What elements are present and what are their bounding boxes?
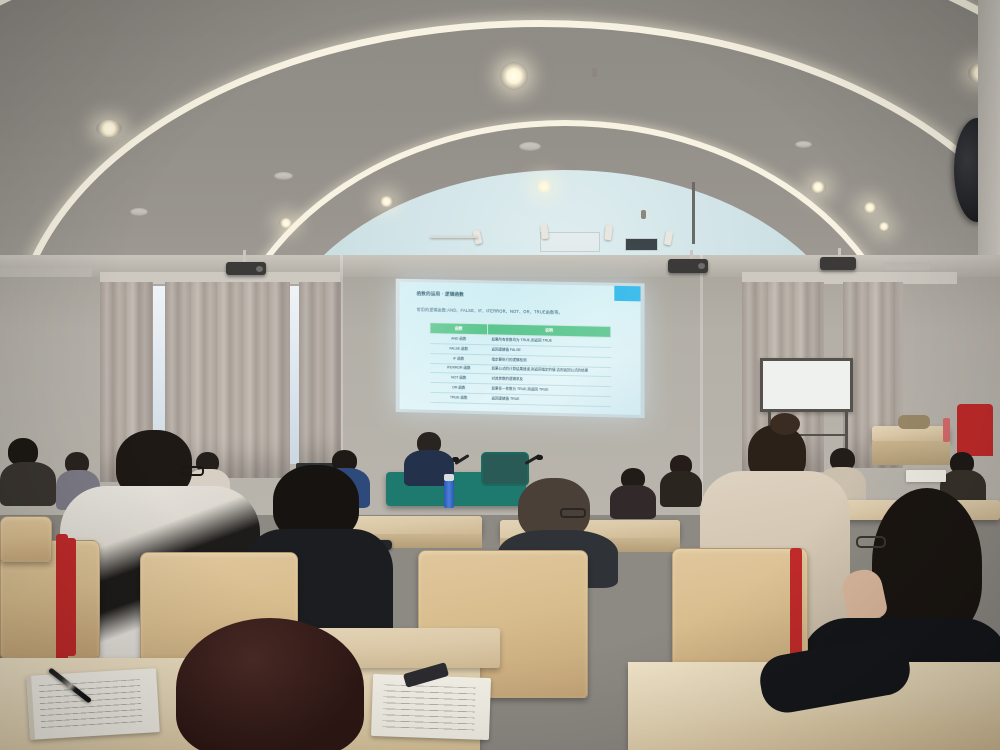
ac-grille — [625, 238, 658, 251]
eyeglasses — [560, 508, 586, 518]
ceiling-vent — [795, 141, 812, 148]
projector-lens — [256, 266, 263, 272]
water-bottle — [444, 480, 454, 508]
downlight — [810, 181, 826, 193]
ceiling-vent — [130, 208, 148, 216]
chair-side-panel — [56, 534, 68, 662]
side-table-front — [872, 441, 950, 465]
downlight — [379, 196, 394, 207]
cell-function: TRUE 函数 — [430, 392, 488, 403]
downlight — [878, 222, 890, 231]
slide-function-table: 函数 说明 AND 函数 如果所有参数均为 TRUE,则返回 TRUE FALS… — [429, 322, 611, 407]
ceiling-vent — [519, 142, 541, 151]
track-light — [430, 236, 478, 238]
head — [872, 488, 982, 638]
mobile-whiteboard[interactable] — [760, 358, 853, 412]
head — [176, 618, 364, 750]
microphone-head — [536, 455, 543, 460]
sprinkler-head — [592, 68, 597, 77]
paper-on-desk — [906, 470, 946, 482]
torso — [0, 462, 56, 506]
downlight — [535, 180, 553, 193]
notebook-lines — [382, 684, 475, 731]
downlight — [500, 62, 528, 90]
red-chair[interactable] — [957, 404, 993, 456]
bottle-cap — [444, 474, 454, 481]
slide-accent-block — [614, 286, 640, 302]
hair-bun — [770, 413, 800, 435]
chair-back[interactable] — [500, 550, 540, 570]
bag-on-table — [898, 415, 930, 429]
audience-member — [0, 438, 56, 500]
slide-subtitle: 常用的逻辑函数:AND、FALSE、IF、IFERROR、NOT、OR、TRUE… — [417, 307, 563, 316]
foreground-student — [176, 618, 364, 750]
ceiling-vent — [274, 172, 293, 180]
downlight — [279, 218, 293, 228]
notebook-lines — [38, 679, 142, 730]
projector-side — [820, 257, 856, 270]
cell-description: 返回逻辑值 TRUE — [488, 394, 611, 407]
window-glass — [290, 286, 299, 464]
projection-screen: 函数的运用 · 逻辑函数 常用的逻辑函数:AND、FALSE、IF、IFERRO… — [396, 279, 645, 418]
chair-back[interactable] — [0, 516, 52, 562]
audience-member — [660, 455, 702, 503]
downlight — [863, 202, 877, 213]
downlight — [96, 120, 122, 137]
eyeglasses — [180, 466, 204, 476]
sprinkler-head — [641, 210, 646, 219]
slide-title: 函数的运用 · 逻辑函数 — [417, 291, 464, 298]
ceiling-conduit — [692, 182, 695, 244]
open-notebook[interactable] — [26, 668, 160, 740]
eyeglasses — [856, 536, 886, 548]
ceiling-duct — [884, 262, 930, 270]
thermos-bottle — [943, 418, 950, 442]
ac-grille — [540, 232, 600, 252]
open-notebook-right[interactable] — [371, 674, 491, 740]
ceiling-duct — [0, 268, 92, 277]
projector-lens — [698, 263, 705, 269]
lecture-hall-photo: 函数的运用 · 逻辑函数 常用的逻辑函数:AND、FALSE、IF、IFERRO… — [0, 0, 1000, 750]
torso — [660, 471, 702, 507]
slide-surface: 函数的运用 · 逻辑函数 常用的逻辑函数:AND、FALSE、IF、IFERRO… — [400, 282, 641, 415]
curtain-left-right — [299, 282, 341, 470]
